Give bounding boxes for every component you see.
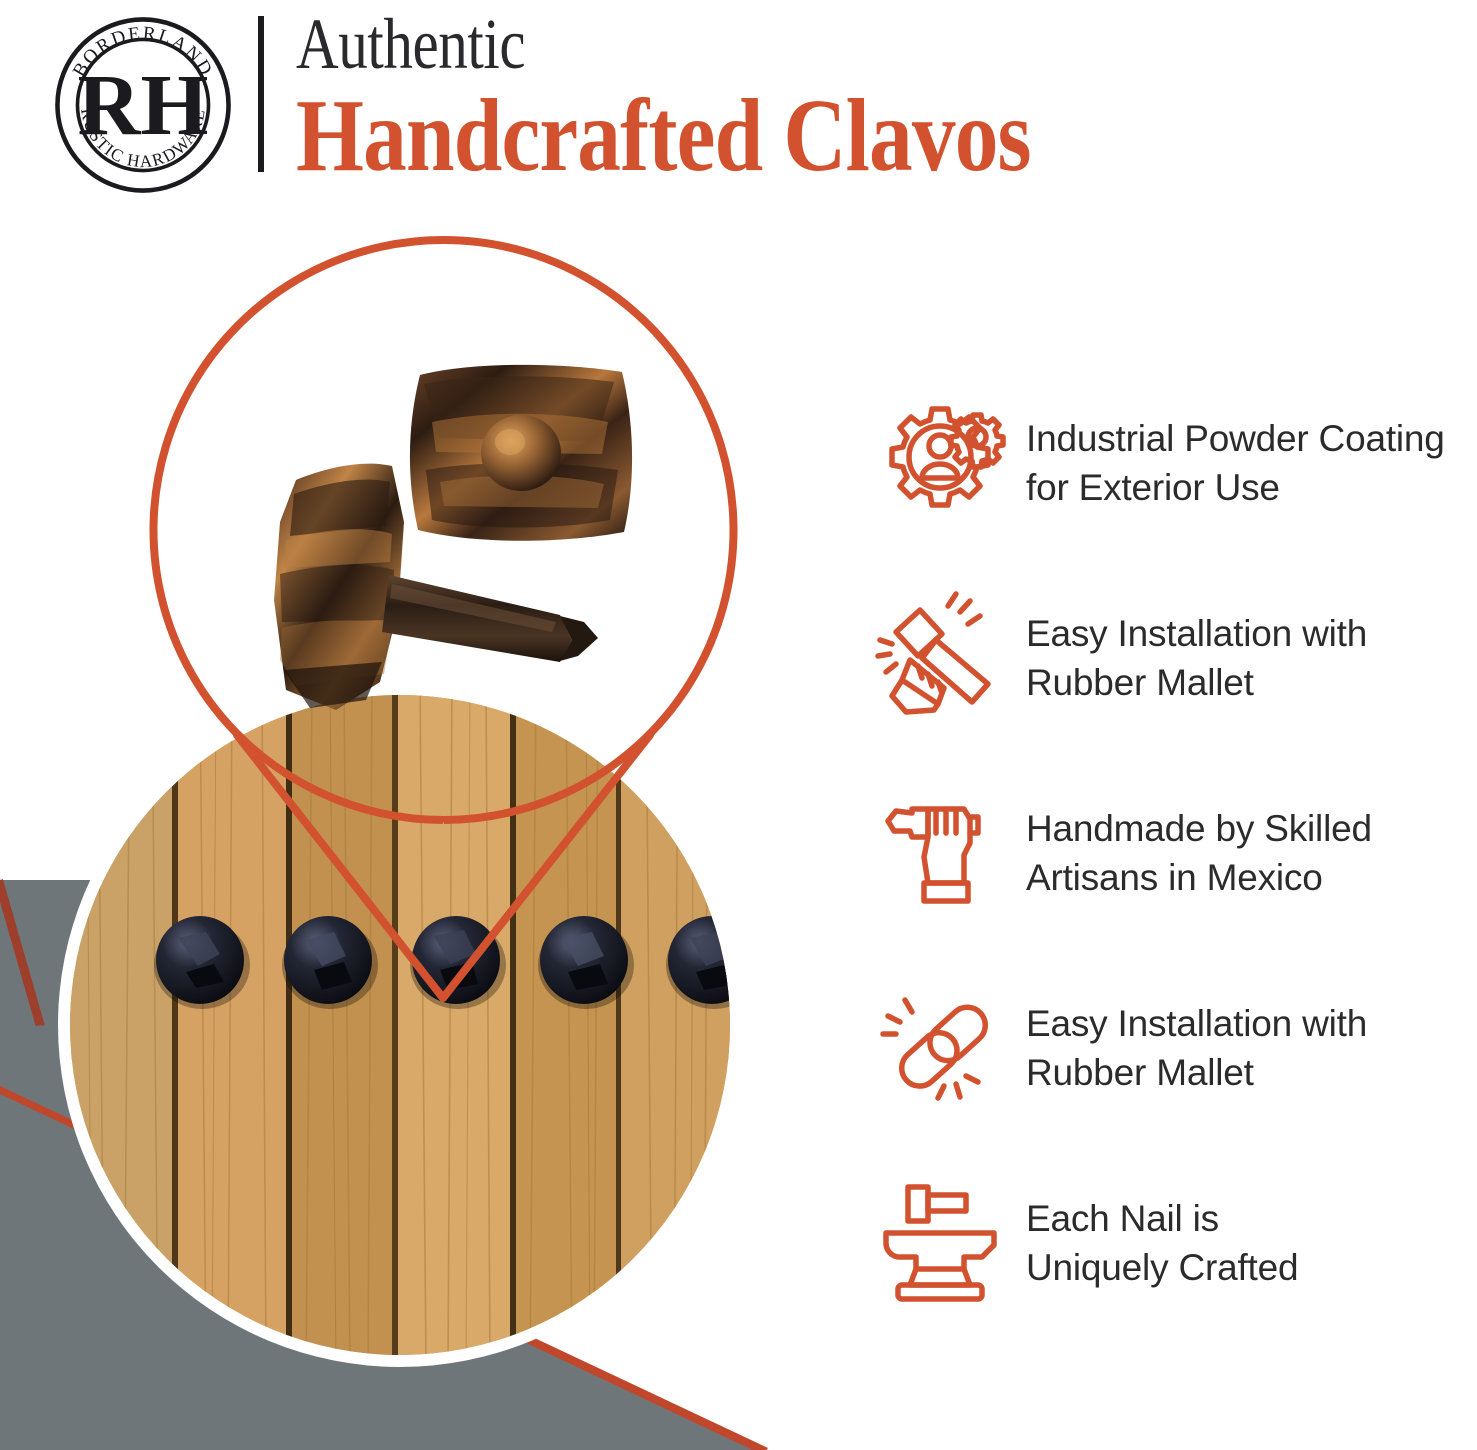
chain-links-icon <box>858 978 1026 1118</box>
clavo-shank <box>382 575 572 662</box>
feature-label: Handmade by Skilled Artisans in Mexico <box>1026 804 1372 902</box>
feature-item: Easy Installation with Rubber Mallet <box>858 560 1477 755</box>
clavo-dome <box>481 415 561 491</box>
header-divider <box>258 16 264 172</box>
feature-label: Easy Installation with Rubber Mallet <box>1026 999 1367 1097</box>
brand-logo: BORDERLAND RUSTIC HARDWARE RH <box>52 14 234 196</box>
page-title-top: Authentic <box>296 0 1013 82</box>
hand-mallet-icon <box>858 588 1026 728</box>
feature-item: Easy Installation with Rubber Mallet <box>858 950 1477 1145</box>
logo-monogram: RH <box>77 56 208 153</box>
feature-item: Handmade by Skilled Artisans in Mexico <box>858 755 1477 950</box>
page-header: BORDERLAND RUSTIC HARDWARE RH Authentic … <box>0 0 1477 190</box>
feature-item: Industrial Powder Coating for Exterior U… <box>858 365 1477 560</box>
gear-person-icon <box>858 393 1026 533</box>
feature-item: Each Nail is Uniquely Crafted <box>858 1145 1477 1340</box>
anvil-hammer-icon <box>858 1173 1026 1313</box>
page-title: Handcrafted Clavos <box>296 84 1031 188</box>
clavo-head-face <box>410 365 632 541</box>
product-imagery <box>0 170 860 1450</box>
feature-list: Industrial Powder Coating for Exterior U… <box>858 365 1477 1340</box>
feature-label: Industrial Powder Coating for Exterior U… <box>1026 414 1445 512</box>
feature-label: Each Nail is Uniquely Crafted <box>1026 1194 1298 1292</box>
header-titles: Authentic Handcrafted Clavos <box>296 0 1171 188</box>
fist-wrench-icon <box>858 783 1026 923</box>
feature-label: Easy Installation with Rubber Mallet <box>1026 609 1367 707</box>
product-photo-group <box>274 365 632 710</box>
install-photo-circle <box>58 683 762 1367</box>
